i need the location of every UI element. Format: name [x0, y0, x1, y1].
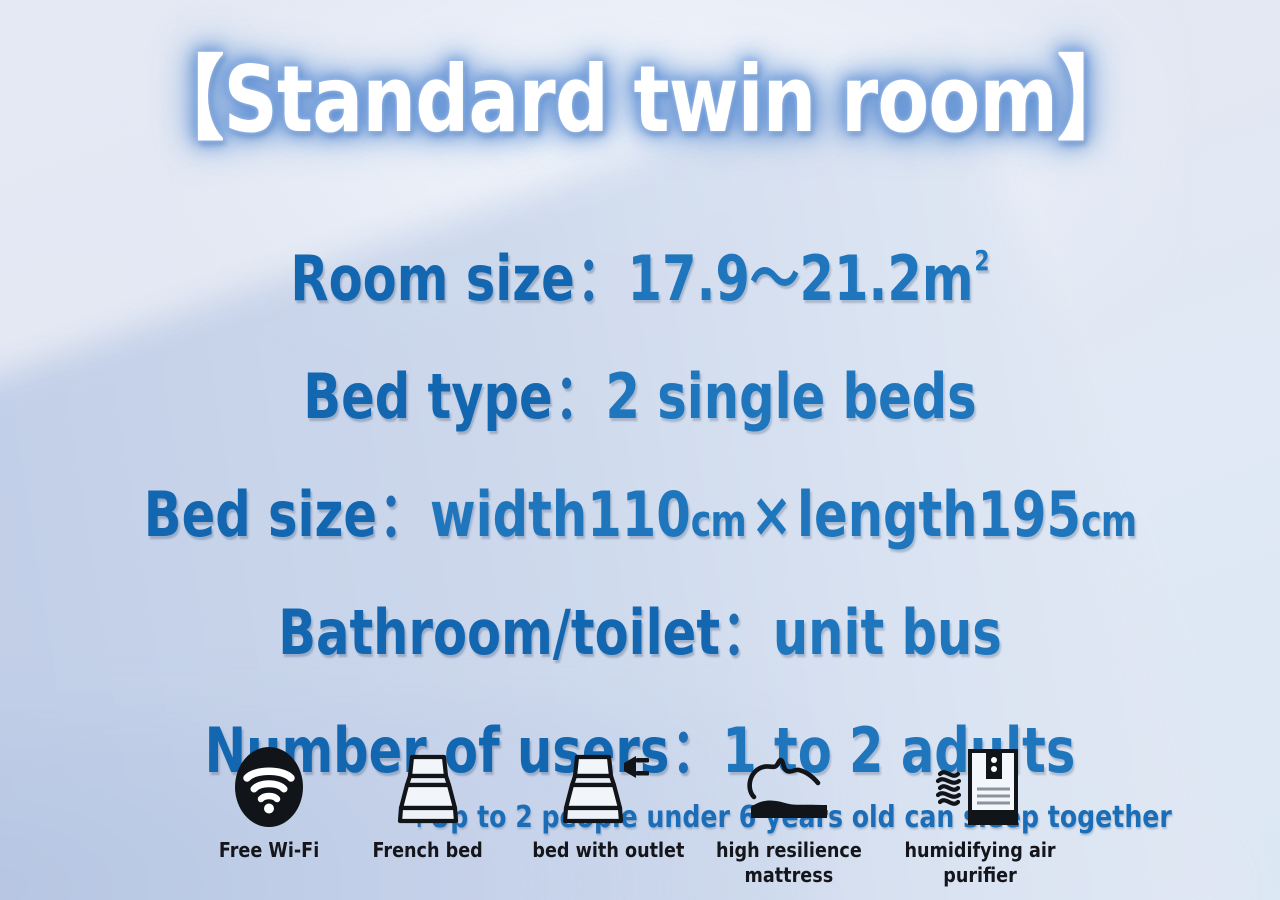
amenity-free-wifi: Free Wi-Fi	[194, 742, 344, 863]
spec-label-bathroom: Bathroom/toilet	[278, 596, 720, 669]
amenity-label-bed-with-outlet: bed with outlet	[532, 838, 684, 863]
bed-with-plug-icon	[552, 742, 664, 832]
spec-row-bathroom: Bathroom/toilet ： unit bus	[128, 582, 1152, 672]
amenity-label-humidifying-air-purifier: humidifying air purifier	[887, 838, 1074, 888]
spec-value-bed-type: 2 single beds	[606, 360, 977, 433]
spec-colon: ：	[720, 582, 773, 672]
amenity-label-french-bed: French bed	[373, 838, 483, 863]
amenity-french-bed: French bed	[344, 742, 512, 863]
spec-row-room-size: Room size ： 17.9〜21.2m2	[128, 228, 1152, 318]
spec-colon: ：	[553, 346, 606, 436]
person-on-mattress-icon	[737, 742, 841, 832]
spec-label-room-size: Room size	[290, 242, 574, 315]
spec-value-bed-length: length195	[797, 478, 1081, 551]
spec-label-bed-type: Bed type	[303, 360, 552, 433]
amenity-bed-with-outlet: bed with outlet	[512, 742, 704, 863]
spec-value-room-size-text: 17.9〜21.2m	[628, 242, 974, 315]
air-purifier-icon	[926, 742, 1034, 832]
amenity-label-free-wifi: Free Wi-Fi	[219, 838, 319, 863]
spec-unit-bed-length: cm	[1081, 497, 1136, 547]
page-title-text: 【Standard twin room】	[149, 52, 1132, 149]
amenity-label-high-resilience-mattress: high resilience mattress	[716, 838, 862, 888]
air-wave-lines	[938, 772, 959, 803]
amenity-high-resilience-mattress: high resilience mattress	[704, 742, 874, 888]
amenity-humidifying-air-purifier: humidifying air purifier	[874, 742, 1086, 888]
room-info-slide: 【Standard twin room】 Room size ： 17.9〜21…	[0, 0, 1280, 900]
spec-row-bed-type: Bed type ： 2 single beds	[128, 346, 1152, 436]
spec-row-bed-size: Bed size ： width110 cm × length195 cm	[128, 464, 1152, 554]
page-title: 【Standard twin room】	[0, 52, 1280, 149]
spec-unit-bed-width: cm	[691, 497, 746, 547]
wifi-icon	[233, 742, 305, 832]
spec-value-room-size: 17.9〜21.2m2	[628, 228, 990, 318]
spec-times-symbol: ×	[746, 478, 797, 551]
bed-icon	[387, 742, 469, 832]
plug-icon	[624, 756, 649, 778]
spec-colon: ：	[575, 228, 628, 318]
spec-value-bed-width: width110	[430, 478, 691, 551]
spec-label-bed-size: Bed size	[144, 478, 377, 551]
spec-value-room-size-superscript: 2	[974, 246, 989, 277]
spec-colon: ：	[377, 464, 430, 554]
spec-value-bathroom: unit bus	[773, 596, 1002, 669]
amenity-list: Free Wi-Fi French bed	[0, 742, 1280, 888]
